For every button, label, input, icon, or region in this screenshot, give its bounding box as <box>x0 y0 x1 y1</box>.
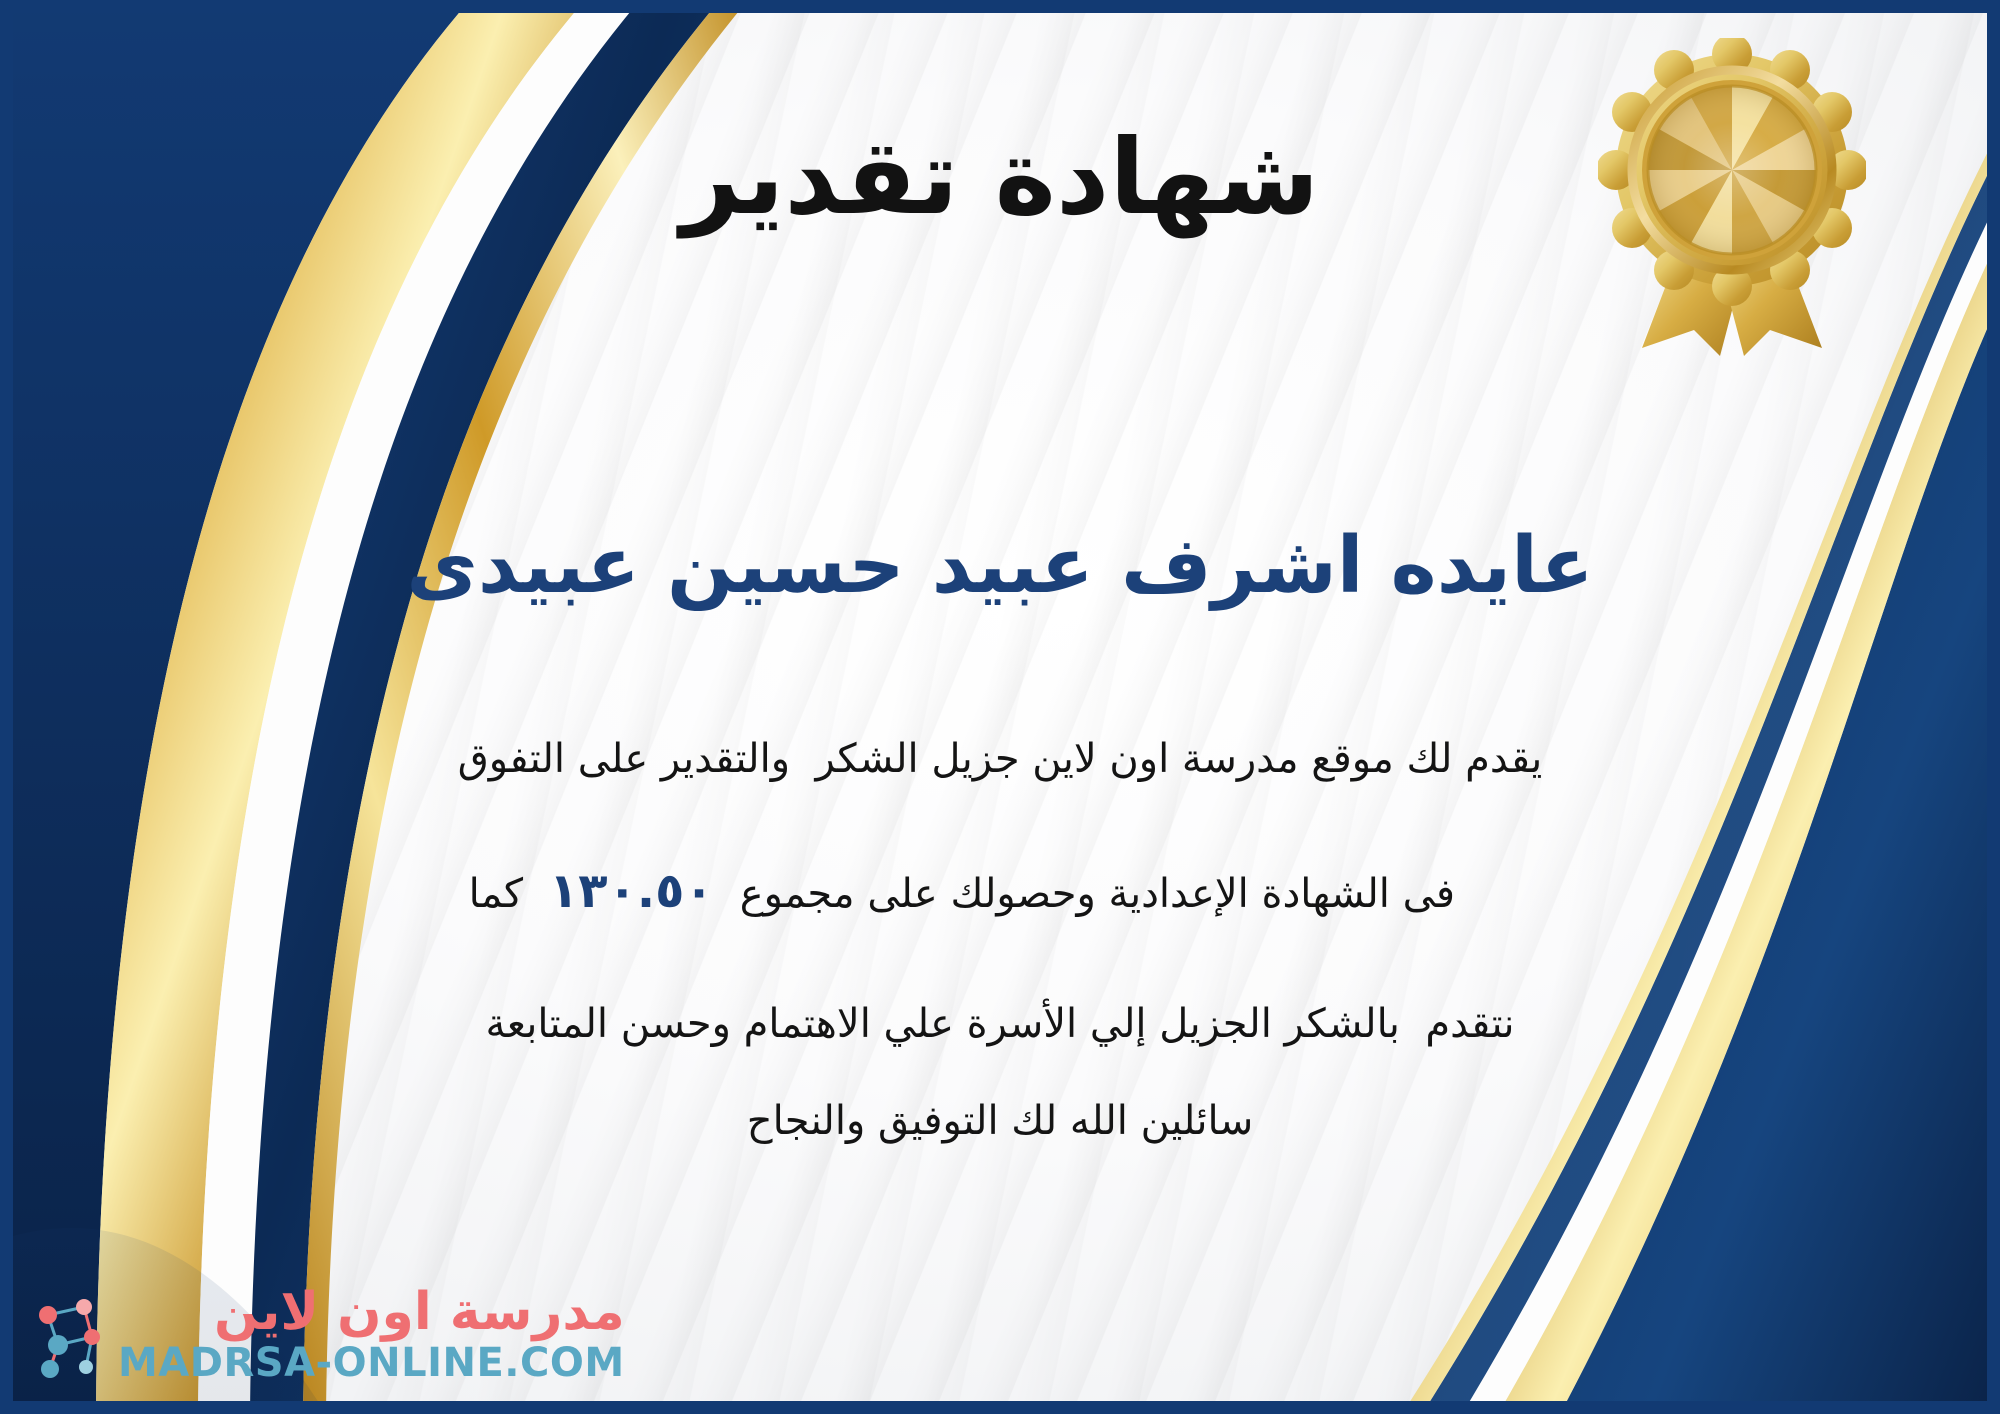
certificate-body: يقدم لك موقع مدرسة اون لاين جزيل الشكر و… <box>150 728 1850 1057</box>
network-nodes-icon <box>28 1293 106 1379</box>
brand-name-arabic: مدرسة اون لاين <box>118 1285 625 1340</box>
gold-award-medal-icon <box>1598 38 1866 356</box>
body-line-1: يقدم لك موقع مدرسة اون لاين جزيل الشكر و… <box>150 728 1850 791</box>
brand-website-url: MADRSA-ONLINE.COM <box>118 1340 625 1386</box>
body-line-3: نتقدم بالشكر الجزيل إلي الأسرة علي الاهت… <box>150 993 1850 1056</box>
total-score-value: ١٣٠.٥٠ <box>523 863 740 919</box>
body-line-2-text-after: كما <box>469 871 523 917</box>
closing-line: سائلين الله لك التوفيق والنجاح <box>0 1098 2000 1144</box>
body-line-2: فى الشهادة الإعدادية وحصولك على مجموع١٣٠… <box>150 791 1850 993</box>
recipient-name: عايده اشرف عبيد حسين عبيدى <box>0 520 2000 614</box>
body-line-2-text-before: فى الشهادة الإعدادية وحصولك على مجموع <box>740 871 1455 917</box>
brand-logo[interactable]: مدرسة اون لاين MADRSA-ONLINE.COM <box>28 1285 625 1386</box>
brand-text: مدرسة اون لاين MADRSA-ONLINE.COM <box>118 1285 625 1386</box>
certificate-page: شهادة تقدير عايده اشرف عبيد حسين عبيدى ي… <box>0 0 2000 1414</box>
